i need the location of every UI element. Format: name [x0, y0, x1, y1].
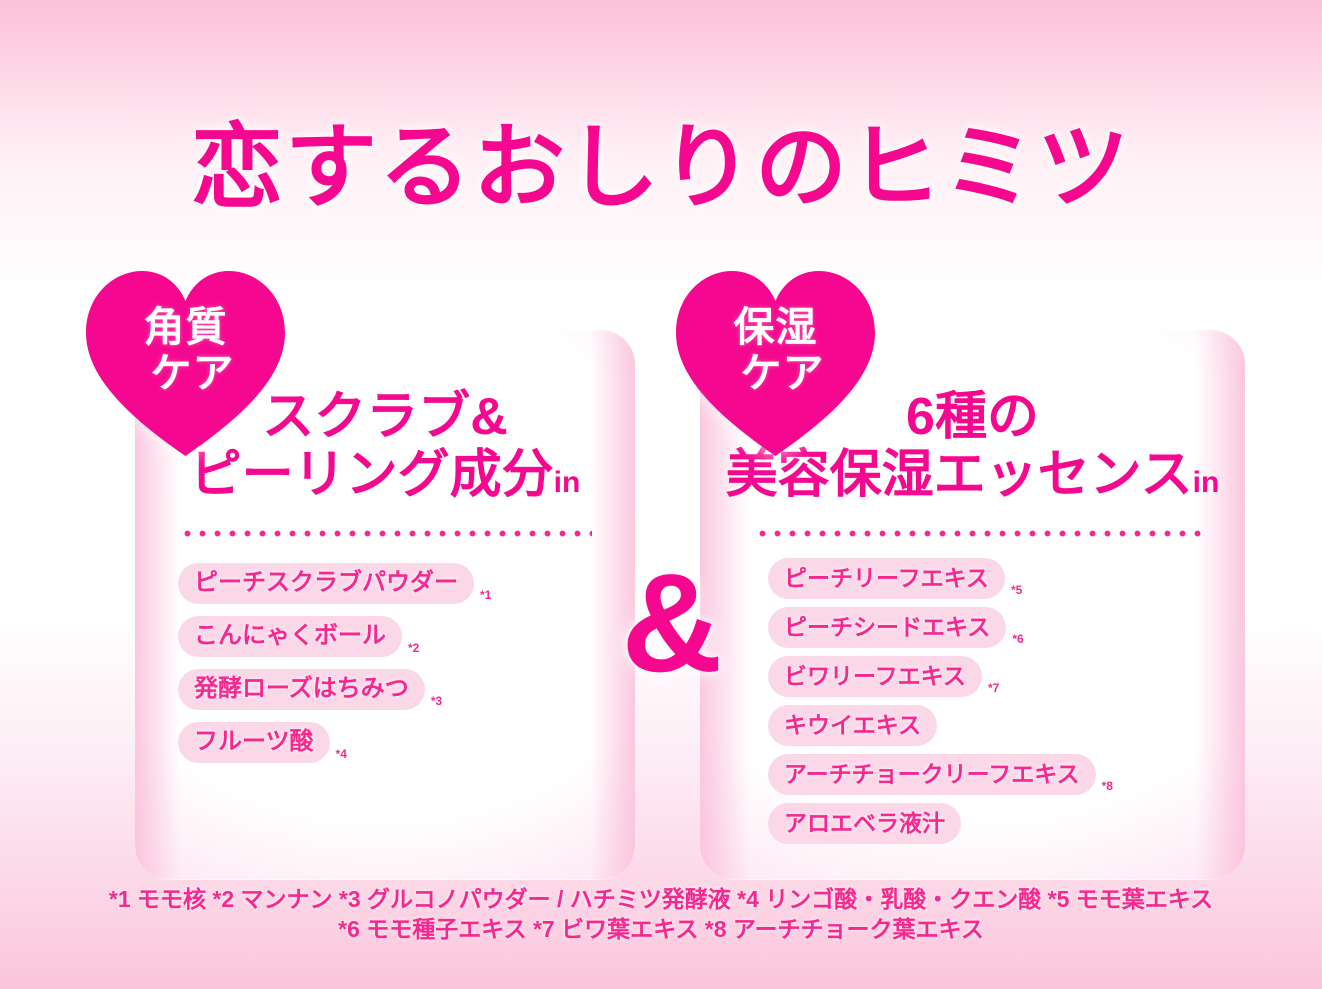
badge-line-2: ケア [741, 350, 825, 396]
ingredient-list-moisture: ピーチリーフエキス*5ピーチシードエキス*6ビワリーフエキス*7キウイエキスアー… [768, 558, 1113, 852]
ingredient-footnote-marker: *5 [1011, 583, 1022, 597]
divider-dotted-right [755, 529, 1205, 538]
badge-line-1: 角質 [144, 304, 228, 350]
ingredient-row: キウイエキス [768, 705, 1113, 746]
ingredient-row: フルーツ酸*4 [178, 722, 491, 763]
heading-suffix: in [1193, 466, 1220, 499]
ingredient-footnote-marker: *7 [988, 681, 999, 695]
badge-label-group: 角質 ケア [78, 263, 293, 458]
ingredient-pill: こんにゃくボール [178, 616, 402, 657]
poster-canvas: 恋するおしりのヒミツ [0, 0, 1322, 989]
badge-label-group: 保湿 ケア [668, 263, 883, 458]
ingredient-footnote-marker: *4 [336, 747, 347, 761]
ingredient-footnote-marker: *6 [1012, 632, 1023, 646]
ingredient-pill: フルーツ酸 [178, 722, 330, 763]
ingredient-row: アーチチョークリーフエキス*8 [768, 754, 1113, 795]
ingredient-row: ピーチシードエキス*6 [768, 607, 1113, 648]
ampersand-connector: & [612, 548, 732, 698]
ingredient-row: ピーチリーフエキス*5 [768, 558, 1113, 599]
ingredient-row: 発酵ローズはちみつ*3 [178, 669, 491, 710]
ingredient-pill: 発酵ローズはちみつ [178, 669, 425, 710]
ingredient-footnote-marker: *2 [408, 641, 419, 655]
ingredient-list-exfoliation: ピーチスクラブパウダー*1こんにゃくボール*2発酵ローズはちみつ*3フルーツ酸*… [178, 563, 491, 775]
divider-dotted-left [180, 529, 592, 538]
footnote-line-2: *6 モモ種子エキス *7 ビワ葉エキス *8 アーチチョーク葉エキス [0, 914, 1322, 944]
footnotes: *1 モモ核 *2 マンナン *3 グルコノパウダー / ハチミツ発酵液 *4 … [0, 884, 1322, 944]
heading-suffix: in [554, 466, 581, 499]
ingredient-row: アロエベラ液汁 [768, 803, 1113, 844]
badge-line-2: ケア [151, 350, 235, 396]
badge-moisture-care: 保湿 ケア [668, 263, 883, 458]
ingredient-pill: ピーチリーフエキス [768, 558, 1005, 599]
ingredient-pill: アロエベラ液汁 [768, 803, 961, 844]
ingredient-footnote-marker: *1 [480, 588, 491, 602]
footnote-line-1: *1 モモ核 *2 マンナン *3 グルコノパウダー / ハチミツ発酵液 *4 … [0, 884, 1322, 914]
ingredient-pill: キウイエキス [768, 705, 937, 746]
page-title: 恋するおしりのヒミツ [0, 118, 1322, 218]
ingredient-pill: アーチチョークリーフエキス [768, 754, 1096, 795]
ingredient-pill: ピーチシードエキス [768, 607, 1006, 648]
ingredient-row: こんにゃくボール*2 [178, 616, 491, 657]
badge-line-1: 保湿 [734, 304, 818, 350]
ingredient-footnote-marker: *8 [1102, 779, 1113, 793]
ingredient-pill: ピーチスクラブパウダー [178, 563, 474, 604]
ingredient-footnote-marker: *3 [431, 694, 442, 708]
ingredient-pill: ビワリーフエキス [768, 656, 982, 697]
ingredient-row: ピーチスクラブパウダー*1 [178, 563, 491, 604]
badge-exfoliation-care: 角質 ケア [78, 263, 293, 458]
ingredient-row: ビワリーフエキス*7 [768, 656, 1113, 697]
